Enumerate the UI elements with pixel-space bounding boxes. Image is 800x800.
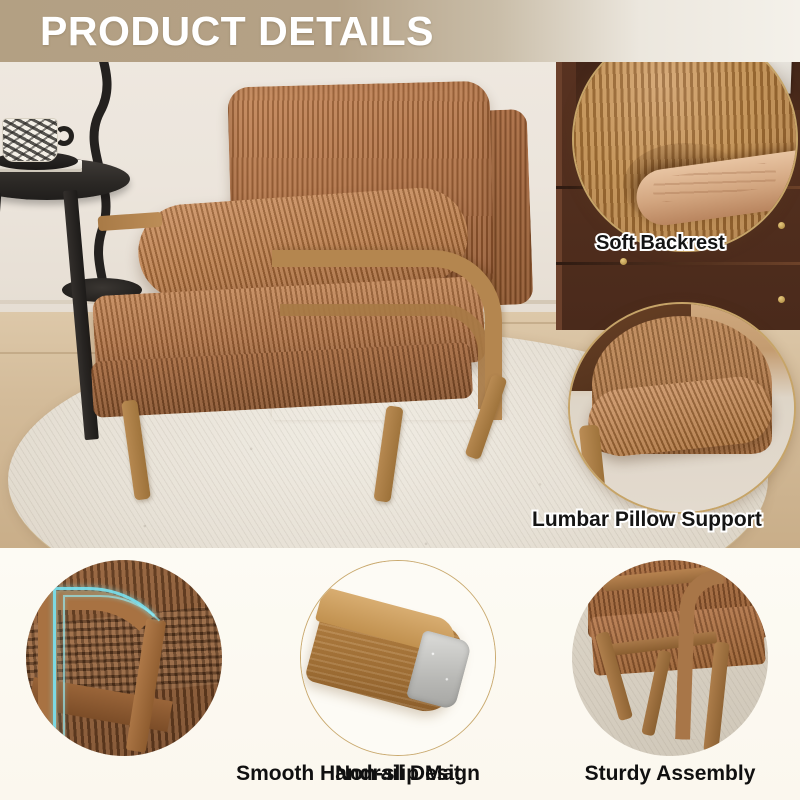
patterned-mug xyxy=(2,118,58,162)
chair-armrest xyxy=(272,250,502,420)
main-product-photo: FOLLOW xyxy=(0,0,800,548)
accent-chair xyxy=(100,74,540,494)
cabinet-knob[interactable] xyxy=(778,296,785,303)
callout-sturdy-assembly xyxy=(572,560,768,756)
callout-non-slip-mat xyxy=(300,560,496,756)
feature-row: Smooth Handrail Design Non-slip Mat Stur… xyxy=(0,548,800,800)
callout-smooth-handrail xyxy=(26,560,222,756)
label-sturdy-assembly: Sturdy Assembly xyxy=(572,762,768,786)
cabinet-knob[interactable] xyxy=(620,258,627,265)
header-banner: PRODUCT DETAILS xyxy=(0,0,800,62)
callout-lumbar-pillow xyxy=(568,302,796,514)
label-soft-backrest: Soft Backrest xyxy=(596,232,725,255)
product-details-page: FOLLOW xyxy=(0,0,800,800)
label-lumbar-pillow-support: Lumbar Pillow Support xyxy=(532,508,762,532)
cabinet-drawer-line xyxy=(556,262,800,265)
label-non-slip-mat: Non-slip Mat xyxy=(300,762,496,786)
page-title: PRODUCT DETAILS xyxy=(40,11,434,52)
